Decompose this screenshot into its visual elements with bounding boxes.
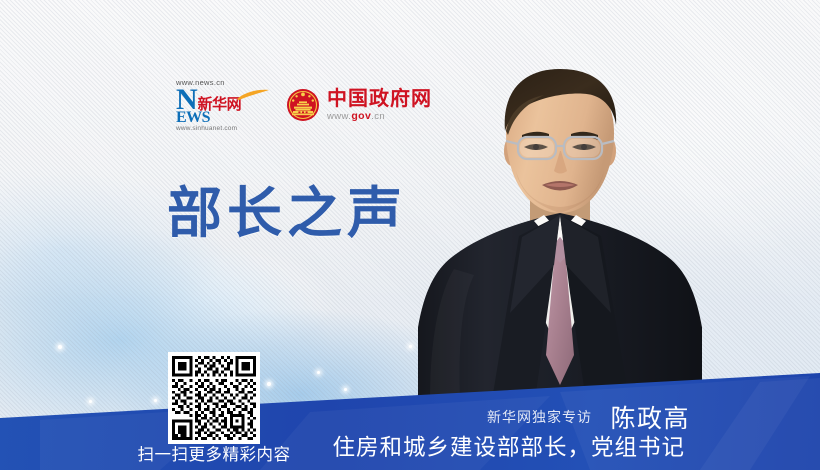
banner-canvas: www.news.cn N 新华网 EWS www.sinhuanet.com: [0, 0, 820, 470]
sparkle-dot: [58, 345, 62, 349]
interviewee-name: 陈政高: [610, 404, 690, 433]
gov-url: www.gov.cn: [327, 110, 432, 123]
xinhua-url-bottom: www.sinhuanet.com: [176, 125, 264, 133]
gov-url-main: gov: [351, 110, 371, 122]
gov-logo-text: 中国政府网 www.gov.cn: [327, 87, 432, 123]
xinhua-name-cn: 新华网: [198, 95, 242, 113]
page-title: 部长之声: [167, 182, 407, 244]
xinhua-news-logo[interactable]: www.news.cn N 新华网 EWS www.sinhuanet.com: [176, 78, 264, 132]
china-gov-logo[interactable]: 中国政府网 www.gov.cn: [286, 87, 432, 123]
interview-prefix: 新华网独家专访: [487, 410, 592, 426]
interviewee-portrait: [418, 55, 702, 400]
china-national-emblem-icon: [286, 88, 320, 122]
gov-url-prefix: www.: [327, 111, 351, 122]
xinhua-wordmark: N 新华网: [176, 87, 264, 113]
gov-name-cn: 中国政府网: [327, 87, 432, 110]
interviewee-title: 住房和城乡建设部部长，党组书记: [0, 430, 685, 462]
xinhua-mark-letter: N: [176, 87, 197, 113]
sparkle-dot: [409, 345, 412, 348]
xinhua-swoosh-icon: [236, 89, 270, 101]
logo-row: www.news.cn N 新华网 EWS www.sinhuanet.com: [176, 78, 432, 132]
gov-url-suffix: .cn: [371, 111, 385, 122]
sparkle-dot: [317, 371, 320, 374]
sparkle-dot: [344, 388, 347, 391]
sparkle-dot: [267, 382, 271, 386]
